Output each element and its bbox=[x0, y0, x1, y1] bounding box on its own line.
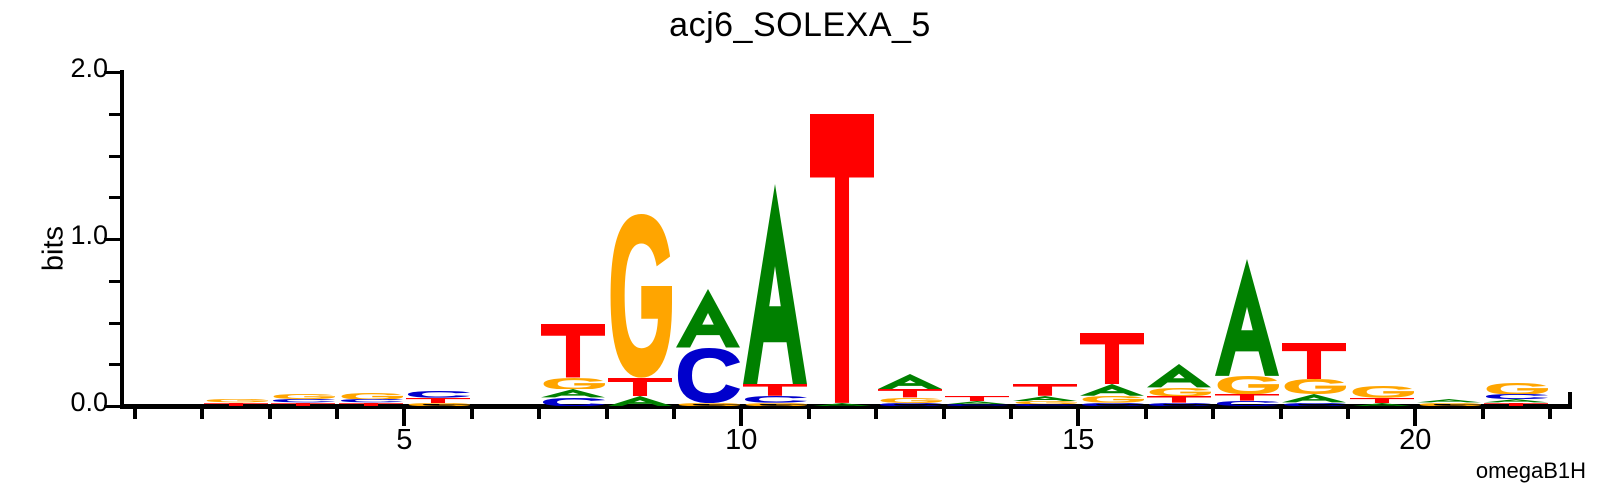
logo-letter-g bbox=[1417, 403, 1481, 406]
logo-letter-g bbox=[1215, 376, 1279, 394]
logo-letter-g bbox=[406, 403, 470, 406]
logo-letter-c bbox=[271, 399, 335, 402]
logo-letter-a bbox=[743, 184, 807, 384]
logo-letter-c bbox=[1147, 403, 1211, 406]
logo-letter-c bbox=[406, 391, 470, 398]
logo-stack bbox=[810, 114, 874, 406]
logo-letter-t bbox=[204, 403, 268, 406]
logo-letter-g bbox=[878, 398, 942, 403]
logo-stack bbox=[1080, 333, 1144, 406]
logo-stack bbox=[1013, 384, 1077, 406]
logo-stack bbox=[541, 324, 605, 406]
logo-letter-t bbox=[1215, 394, 1279, 401]
logo-stack bbox=[1282, 343, 1346, 406]
logo-stack bbox=[1215, 259, 1279, 406]
logo-letter-t bbox=[339, 403, 403, 406]
logo-letter-a bbox=[676, 289, 740, 347]
logo-letter-a bbox=[541, 389, 605, 397]
logo-letter-c bbox=[1215, 401, 1279, 406]
logo-stack bbox=[339, 393, 403, 406]
logo-letter-g bbox=[541, 378, 605, 390]
logo-letter-a bbox=[945, 401, 1009, 404]
logo-letter-g bbox=[676, 403, 740, 406]
logo-letter-c bbox=[1484, 394, 1548, 399]
logo-stack bbox=[406, 391, 470, 406]
logo-letter-t bbox=[1282, 343, 1346, 380]
logo-letter-t bbox=[1350, 398, 1414, 403]
logo-stack bbox=[608, 214, 672, 406]
logo-letter-a bbox=[810, 403, 874, 406]
logo-letter-g bbox=[1282, 379, 1346, 394]
logo-letter-t bbox=[810, 114, 874, 403]
logo-letter-g bbox=[1350, 386, 1414, 398]
logo-letter-a bbox=[878, 374, 942, 389]
logo-letter-a bbox=[1147, 364, 1211, 387]
footer-label: omegaB1H bbox=[1476, 458, 1586, 484]
logo-stack-group bbox=[0, 0, 1600, 496]
logo-letter-a bbox=[1417, 399, 1481, 402]
logo-letter-c bbox=[1282, 403, 1346, 406]
logo-stack bbox=[676, 289, 740, 406]
logo-letter-c bbox=[676, 348, 740, 403]
logo-letter-a bbox=[608, 396, 672, 406]
logo-letter-g bbox=[608, 214, 672, 378]
logo-letter-g bbox=[1013, 401, 1077, 404]
logo-stack bbox=[945, 396, 1009, 406]
logo-letter-a bbox=[1013, 396, 1077, 401]
logo-letter-t bbox=[1080, 333, 1144, 385]
logo-stack bbox=[1484, 383, 1548, 406]
logo-letter-t bbox=[271, 403, 335, 406]
logo-stack bbox=[271, 394, 335, 406]
logo-letter-g bbox=[204, 399, 268, 402]
logo-stack bbox=[878, 374, 942, 406]
sequence-logo-figure: acj6_SOLEXA_5 bits 0.01.02.0 5101520 ome… bbox=[0, 0, 1600, 496]
logo-letter-c bbox=[878, 403, 942, 406]
logo-letter-t bbox=[1147, 396, 1211, 403]
logo-letter-g bbox=[271, 394, 335, 399]
logo-letter-a bbox=[1282, 394, 1346, 402]
logo-letter-t bbox=[406, 398, 470, 403]
logo-letter-a bbox=[1080, 384, 1144, 396]
logo-letter-c bbox=[1080, 403, 1144, 406]
logo-letter-c bbox=[743, 396, 807, 403]
logo-letter-a bbox=[1350, 403, 1414, 406]
logo-letter-t bbox=[878, 389, 942, 397]
logo-stack bbox=[204, 399, 268, 406]
logo-letter-t bbox=[1484, 403, 1548, 406]
logo-letter-g bbox=[1484, 383, 1548, 395]
logo-letter-c bbox=[541, 398, 605, 406]
logo-letter-g bbox=[1080, 396, 1144, 403]
logo-letter-t bbox=[608, 378, 672, 396]
logo-letter-t bbox=[743, 384, 807, 396]
logo-stack bbox=[136, 405, 200, 406]
logo-letter-t bbox=[541, 324, 605, 377]
logo-letter-g bbox=[743, 403, 807, 406]
logo-stack bbox=[1350, 386, 1414, 406]
logo-stack bbox=[473, 405, 537, 406]
logo-stack bbox=[1417, 399, 1481, 406]
logo-letter-t bbox=[945, 396, 1009, 401]
logo-stack bbox=[743, 184, 807, 406]
logo-stack bbox=[1147, 364, 1211, 406]
logo-letter-t bbox=[1013, 384, 1077, 396]
logo-letter-g bbox=[339, 393, 403, 400]
logo-letter-c bbox=[339, 399, 403, 402]
logo-letter-g bbox=[1147, 388, 1211, 396]
logo-letter-a bbox=[1484, 399, 1548, 402]
logo-letter-a bbox=[1215, 259, 1279, 376]
